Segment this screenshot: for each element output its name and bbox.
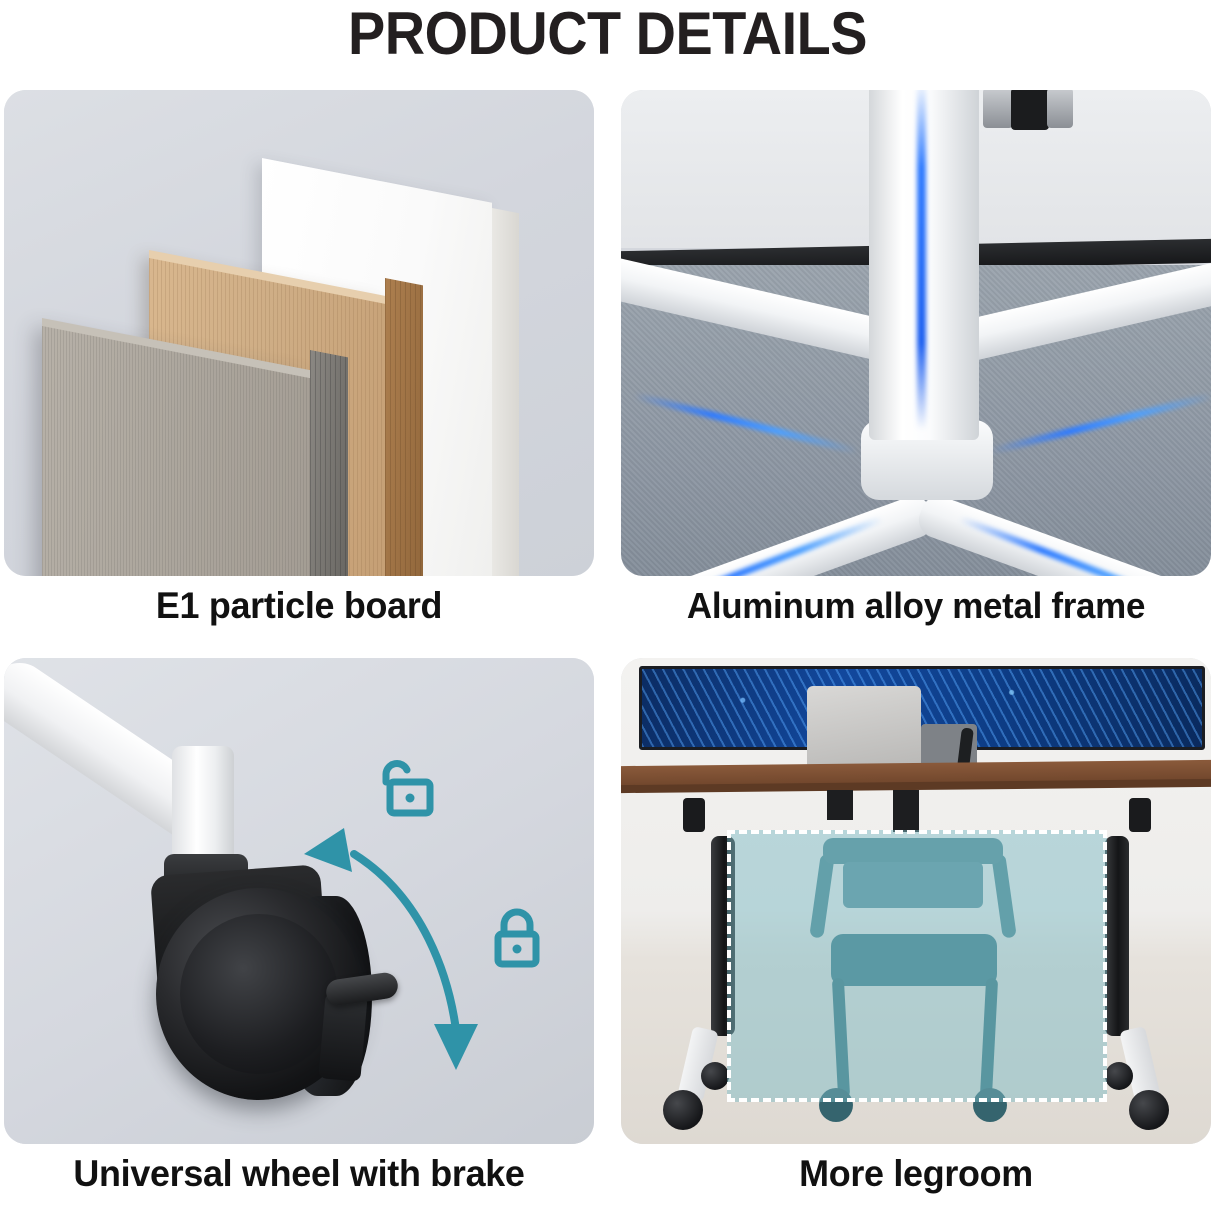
desk-caster-inner-right: [1105, 1062, 1133, 1090]
lock-icon: [488, 908, 546, 968]
grey-board-edge: [310, 350, 348, 576]
product-details-page: PRODUCT DETAILS E1 particle board Alumin…: [0, 0, 1215, 1205]
unlock-icon: [376, 758, 434, 818]
panel-more-legroom[interactable]: [621, 658, 1211, 1144]
caption-more-legroom: More legroom: [630, 1148, 1202, 1200]
chair-part-right: [1047, 90, 1073, 128]
chair-part-dark: [1011, 90, 1049, 130]
panel-metal-frame[interactable]: [621, 90, 1211, 576]
desk-crossbar-left: [827, 790, 853, 820]
caption-universal-wheel: Universal wheel with brake: [13, 1148, 585, 1200]
desk-leg-black-right: [1105, 836, 1129, 1036]
desk-caster-left: [663, 1090, 703, 1130]
desk-caster-right: [1129, 1090, 1169, 1130]
legroom-highlight-area: [727, 830, 1107, 1102]
caption-particle-board: E1 particle board: [13, 580, 585, 632]
page-title: PRODUCT DETAILS: [43, 0, 1173, 70]
desk-bracket-left: [683, 798, 705, 832]
laptop: [807, 686, 921, 768]
panel-universal-wheel[interactable]: [4, 658, 594, 1144]
caster-wheel-hub: [180, 914, 338, 1074]
brake-stem: [318, 992, 367, 1081]
desk-caster-inner-left: [701, 1062, 729, 1090]
column-glow-streak: [917, 90, 926, 430]
white-board-edge: [492, 208, 519, 576]
panel-particle-board[interactable]: [4, 90, 594, 576]
oak-board-edge: [385, 278, 423, 576]
desk-crossbar-right: [893, 790, 919, 832]
desk-bracket-right: [1129, 798, 1151, 832]
caption-metal-frame: Aluminum alloy metal frame: [630, 580, 1202, 632]
chair-part-left: [983, 90, 1013, 128]
